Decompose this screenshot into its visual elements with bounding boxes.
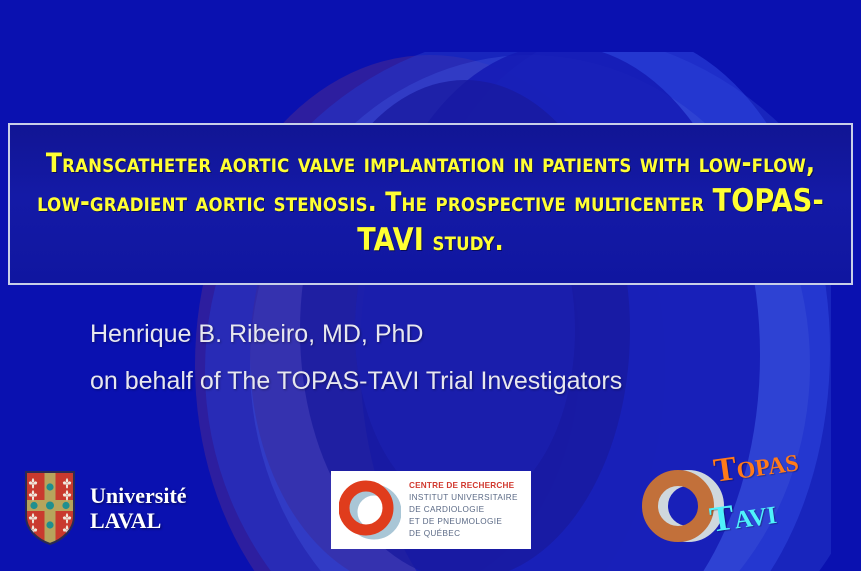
topas-wordmark: Topas	[711, 441, 800, 490]
crchu-line-3: de cardiologie	[409, 504, 518, 516]
title-panel: Transcatheter aortic valve implantation …	[8, 123, 853, 285]
topas-tavi-logo: Topas Tavi	[636, 452, 861, 562]
crchu-line-5: de Québec	[409, 528, 518, 540]
crchu-line-1: Centre de recherche	[409, 480, 518, 492]
laval-line-1: Université	[90, 483, 187, 508]
background-flat-top	[0, 0, 861, 52]
presentation-slide: Transcatheter aortic valve implantation …	[0, 0, 861, 571]
laval-line-2: LAVAL	[90, 508, 187, 533]
title-line-3-post: study.	[424, 226, 504, 257]
crchu-line-4: et de pneumologie	[409, 516, 518, 528]
crchu-ring-icon	[339, 479, 401, 541]
page-title: Transcatheter aortic valve implantation …	[23, 147, 839, 261]
crchu-line-2: Institut universitaire	[409, 492, 518, 504]
presenter-name: Henrique B. Ribeiro, MD, PhD	[90, 322, 750, 347]
tavi-wordmark: Tavi	[707, 490, 779, 541]
laval-wordmark: Université LAVAL	[90, 483, 187, 534]
presenter-affiliation: on behalf of The TOPAS-TAVI Trial Invest…	[90, 369, 750, 394]
laval-shield-icon	[24, 470, 76, 546]
title-line-3-pre: prospective multicenter	[436, 187, 713, 218]
universite-laval-logo: Université LAVAL	[24, 470, 187, 546]
presenter-block: Henrique B. Ribeiro, MD, PhD on behalf o…	[90, 322, 750, 394]
title-line-1: Transcatheter aortic valve implantation …	[46, 148, 632, 179]
centre-de-recherche-logo: Centre de recherche Institut universitai…	[331, 471, 531, 549]
crchu-wordmark: Centre de recherche Institut universitai…	[409, 480, 518, 539]
